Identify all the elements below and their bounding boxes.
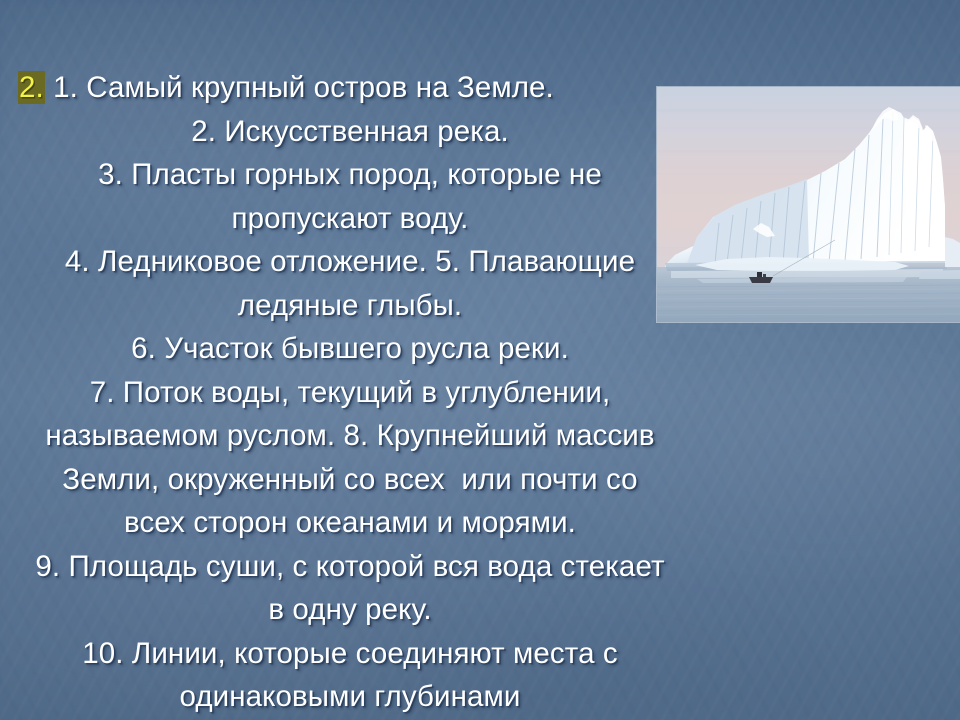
text-line-7: 6. Участок бывшего русла реки. bbox=[0, 327, 700, 371]
text-line-12: 9. Площадь суши, с которой вся вода стек… bbox=[0, 545, 700, 589]
text-line-2: 2. Искусственная река. bbox=[0, 110, 700, 154]
highlighted-marker: 2. bbox=[18, 71, 45, 104]
text-line-5: 4. Ледниковое отложение. 5. Плавающие bbox=[0, 240, 700, 284]
text-line-9: называемом руслом. 8. Крупнейший массив bbox=[0, 414, 700, 458]
text-line-1-rest: 1. Самый крупный остров на Земле. bbox=[45, 71, 554, 104]
text-line-8: 7. Поток воды, текущий в углублении, bbox=[0, 371, 700, 415]
text-line-10: Земли, окруженный со всех или почти со bbox=[0, 458, 700, 502]
text-line-13: в одну реку. bbox=[0, 588, 700, 632]
iceberg-illustration bbox=[657, 87, 960, 322]
text-line-6: ледяные глыбы. bbox=[0, 284, 700, 328]
slide-text-block: 2. 1. Самый крупный остров на Земле. 2. … bbox=[0, 66, 700, 719]
text-line-1: 2. 1. Самый крупный остров на Земле. bbox=[0, 66, 700, 110]
iceberg-photo bbox=[657, 87, 960, 322]
text-line-4: пропускают воду. bbox=[0, 197, 700, 241]
presentation-slide: 2. 1. Самый крупный остров на Земле. 2. … bbox=[0, 0, 960, 720]
text-line-14: 10. Линии, которые соединяют места с bbox=[0, 632, 700, 676]
text-line-3: 3. Пласты горных пород, которые не bbox=[0, 153, 700, 197]
text-line-15: одинаковыми глубинами bbox=[0, 675, 700, 719]
text-line-11: всех сторон океанами и морями. bbox=[0, 501, 700, 545]
